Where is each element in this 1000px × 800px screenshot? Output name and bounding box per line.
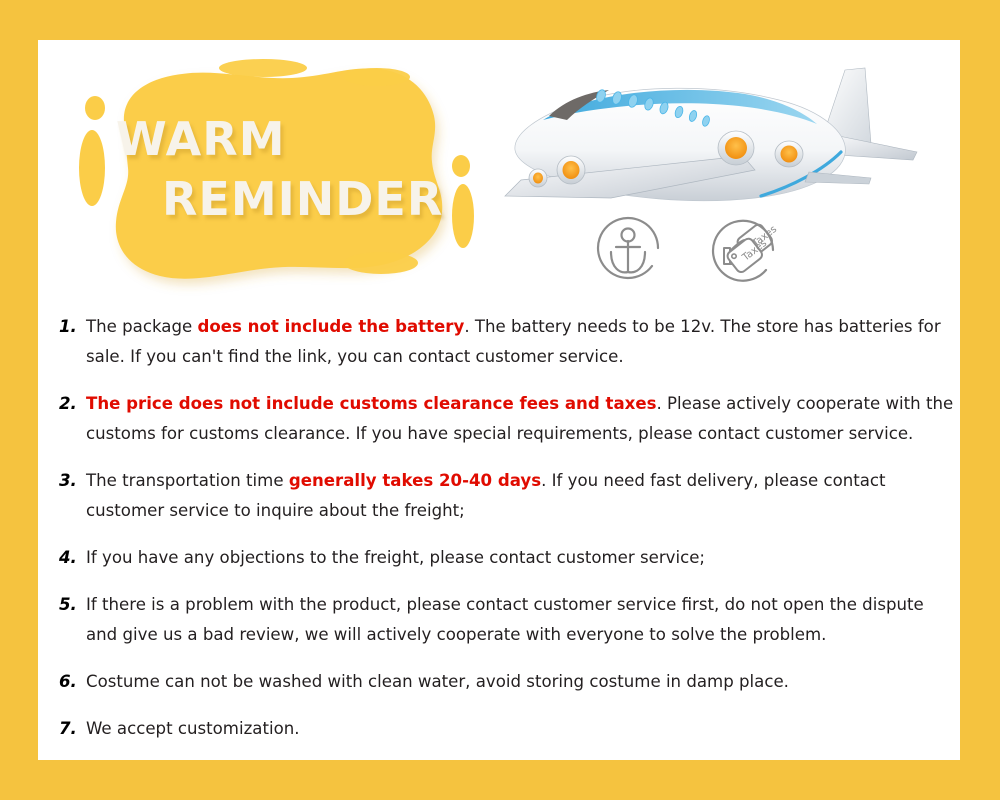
reminder-item: 5.If there is a problem with the product… (56, 590, 956, 650)
warm-reminder-banner: WARM REMINDER (78, 50, 498, 305)
anchor-icon-shackle (622, 229, 635, 242)
plane-engine-inner (718, 131, 754, 165)
plane-wing-engine-outer (529, 169, 547, 187)
reminder-item-text: We accept customization. (86, 714, 956, 744)
airplane-illustration (493, 58, 933, 218)
banner-accent-stem-left (79, 130, 105, 206)
anchor-icon (586, 208, 670, 292)
reminder-item-text: The package does not include the battery… (86, 312, 956, 372)
reminder-item-number: 5. (59, 590, 77, 620)
banner-blob-shape (116, 68, 442, 278)
reminder-item: 4.If you have any objections to the frei… (56, 543, 956, 573)
reminder-item-number: 6. (59, 667, 77, 697)
reminder-item-number: 1. (59, 312, 77, 342)
banner-accent-ellipse-top-left (219, 59, 307, 77)
reminder-item-text: The price does not include customs clear… (86, 389, 956, 449)
reminder-item-number: 2. (59, 389, 77, 419)
banner-accent-dot-right (452, 155, 470, 177)
reminder-plain: The transportation time (86, 471, 289, 490)
banner-accent-ellipse-top-right (344, 68, 410, 86)
reminder-item: 7.We accept customization. (56, 714, 956, 744)
header-illustration-area: WARM REMINDER (38, 40, 960, 310)
reminder-plain: We accept customization. (86, 719, 300, 738)
plane-ventral-fin (805, 172, 871, 184)
reminder-item-number: 4. (59, 543, 77, 573)
banner-accent-ellipse-bottom (344, 252, 418, 274)
reminder-item: 6.Costume can not be washed with clean w… (56, 667, 956, 697)
reminder-plain: The package (86, 317, 197, 336)
banner-accent-stem-right (452, 184, 474, 248)
poster-frame: WARM REMINDER (0, 0, 1000, 800)
reminder-highlight: does not include the battery (197, 317, 464, 336)
reminder-highlight: generally takes 20-40 days (289, 471, 541, 490)
plane-engine-outer (775, 141, 803, 167)
reminder-item-text: If you have any objections to the freigh… (86, 543, 956, 573)
reminder-plain: Costume can not be washed with clean wat… (86, 672, 789, 691)
reminder-item: 2.The price does not include customs cle… (56, 389, 956, 449)
reminder-plain: If there is a problem with the product, … (86, 595, 924, 644)
content-panel: WARM REMINDER (38, 40, 960, 760)
taxes-icon: Taxes Taxes (702, 208, 786, 292)
reminder-item-number: 3. (59, 466, 77, 496)
reminder-item: 3.The transportation time generally take… (56, 466, 956, 526)
reminder-item-text: If there is a problem with the product, … (86, 590, 956, 650)
reminder-list: 1.The package does not include the batte… (56, 312, 956, 760)
reminder-highlight: The price does not include customs clear… (86, 394, 657, 413)
plane-wing-engine-inner (557, 156, 585, 184)
reminder-plain: If you have any objections to the freigh… (86, 548, 705, 567)
reminder-item: 1.The package does not include the batte… (56, 312, 956, 372)
reminder-item-text: Costume can not be washed with clean wat… (86, 667, 956, 697)
banner-accent-dot-left (85, 96, 105, 120)
reminder-item-text: The transportation time generally takes … (86, 466, 956, 526)
reminder-item-number: 7. (59, 714, 77, 744)
badge-icon-group: Taxes Taxes (586, 200, 816, 305)
